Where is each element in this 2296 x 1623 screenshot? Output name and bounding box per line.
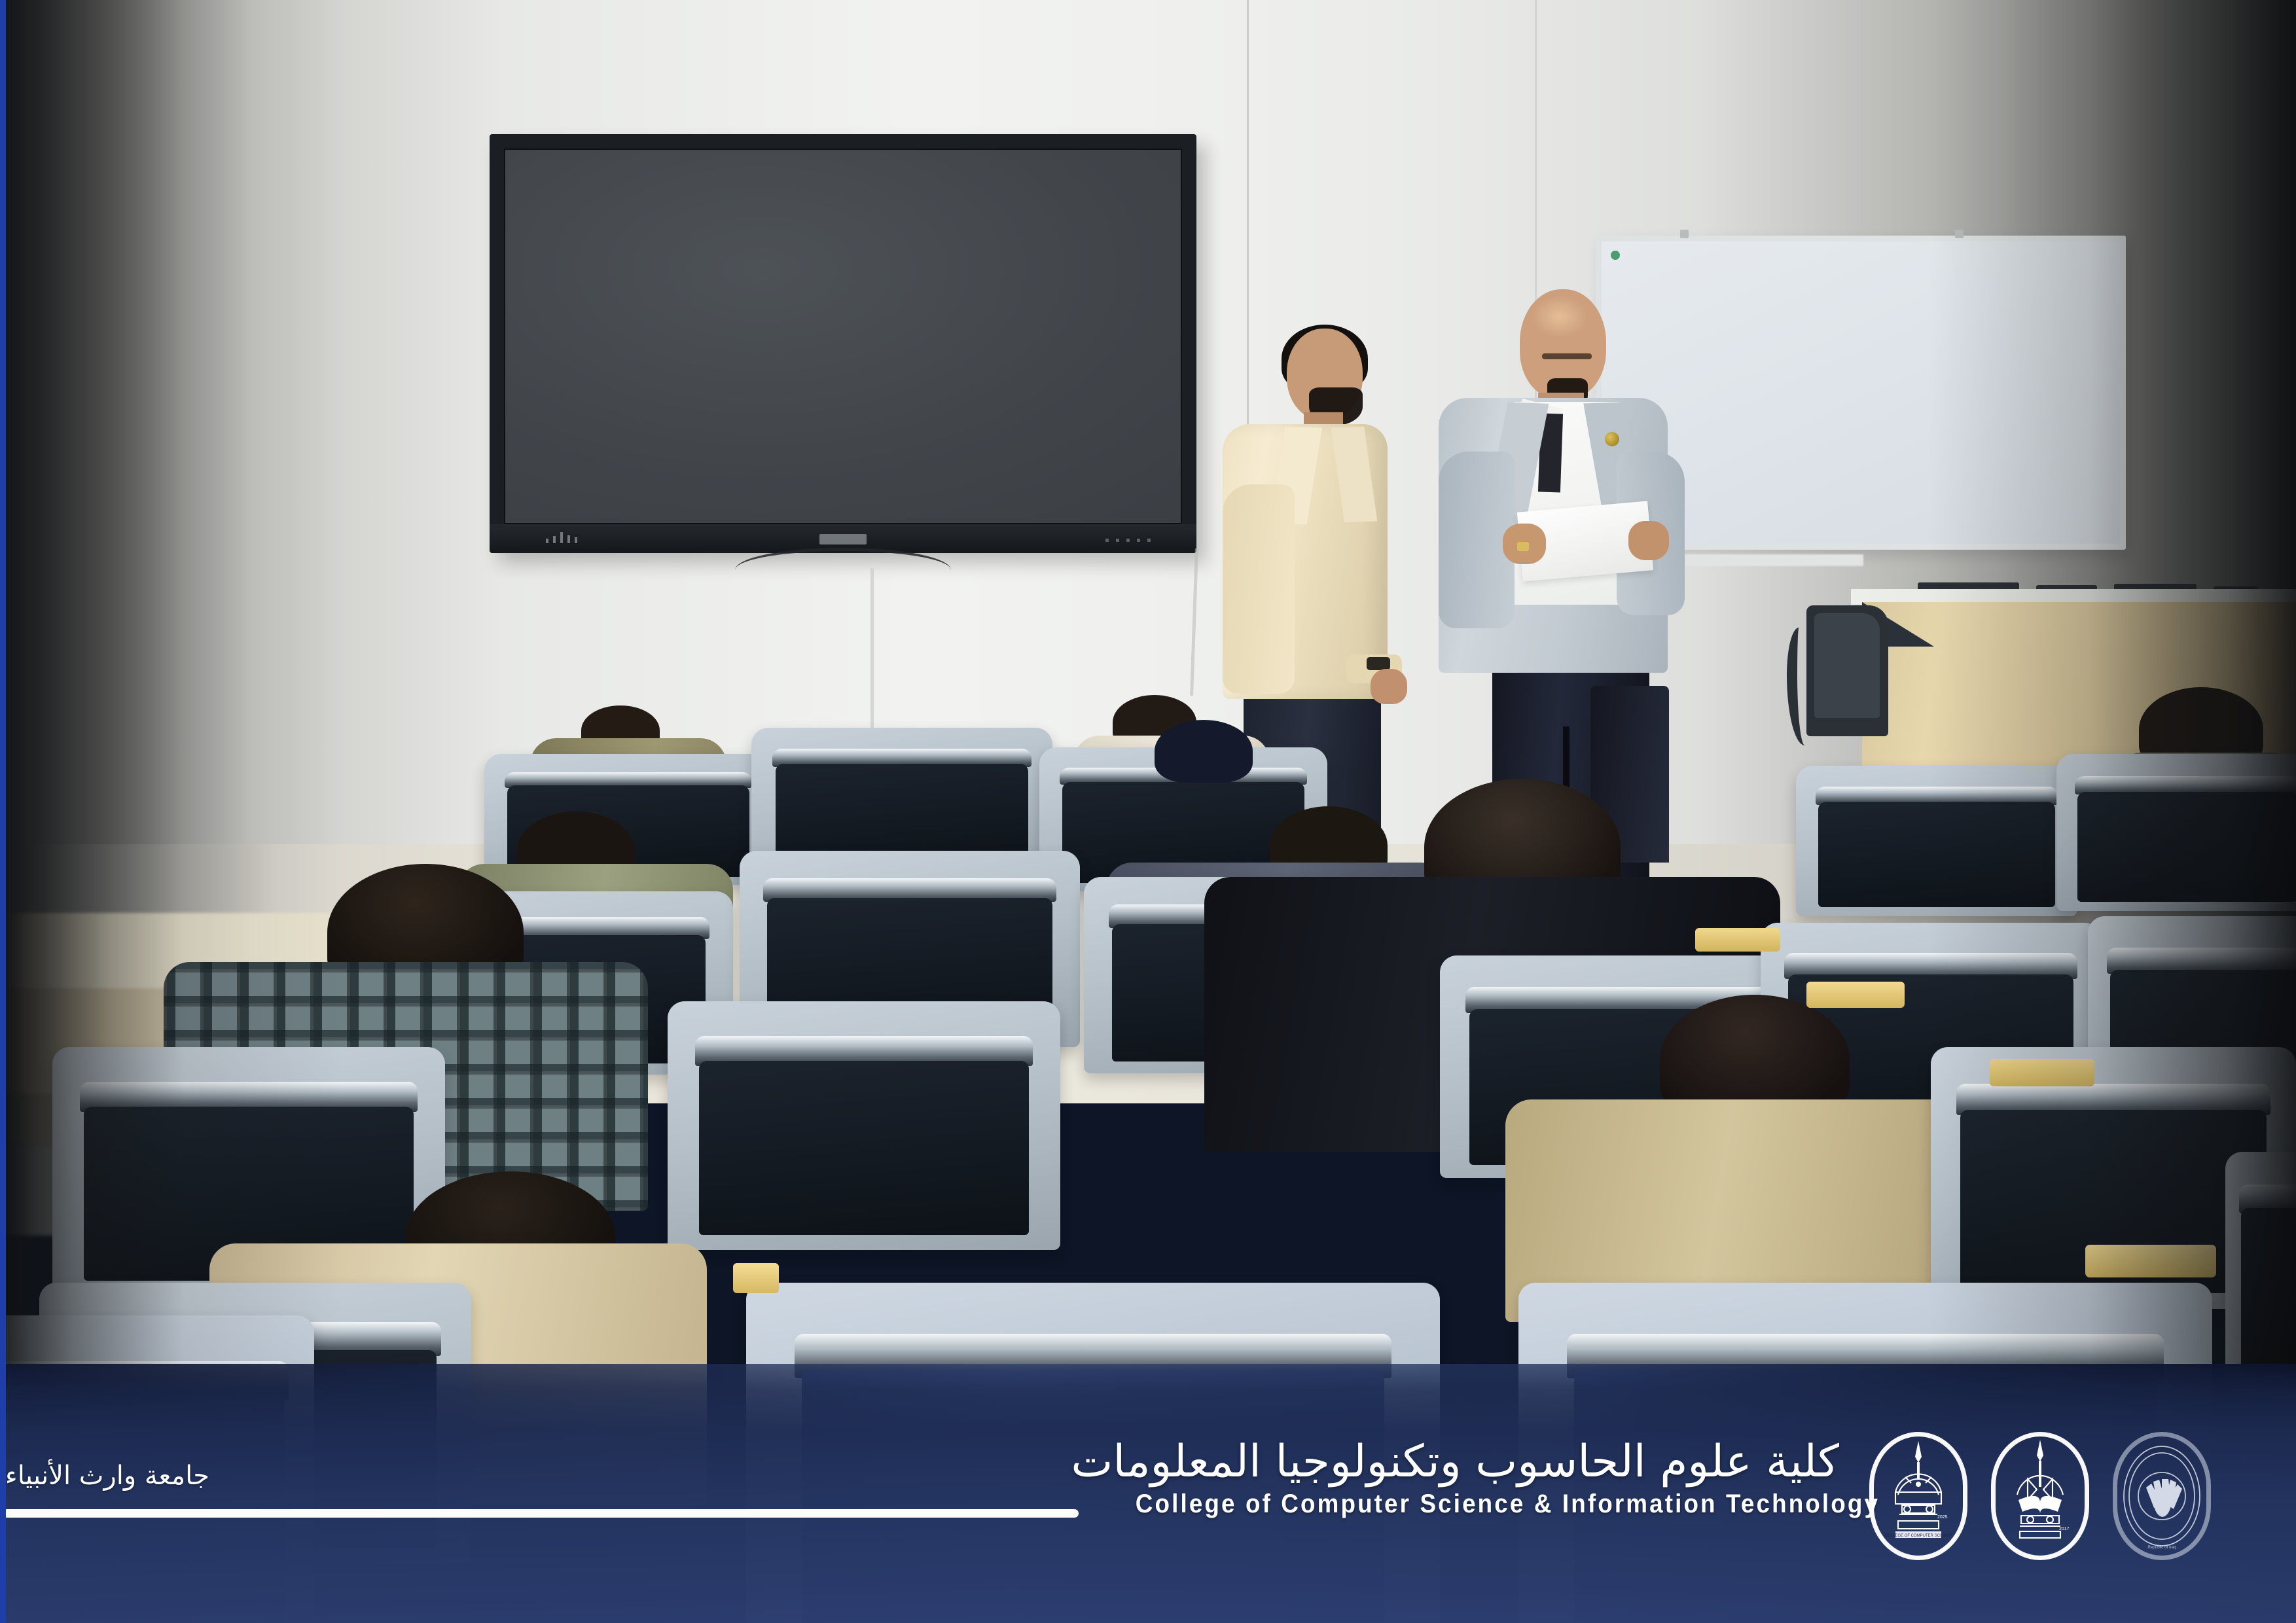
faculty-left-hand — [1371, 669, 1407, 704]
display-indicator-leds — [546, 532, 577, 543]
faculty-left-wristwatch — [1367, 657, 1390, 670]
faculty-right-ring — [1517, 542, 1529, 551]
faculty-right-head-highlight — [1532, 296, 1588, 338]
whiteboard-clip-left — [1680, 230, 1689, 238]
seat-row3-2 — [668, 1001, 1060, 1250]
seat-pad — [2241, 1208, 2296, 1373]
university-name-arabic: جامعة وارث الأنبياء(عليه السلام) — [0, 1461, 209, 1491]
faculty-right-hand-right — [1628, 521, 1669, 560]
seat-row5-5 — [2056, 754, 2296, 911]
svg-text:2017: 2017 — [2059, 1527, 2070, 1531]
seat-pad — [2077, 792, 2296, 902]
emblem-university-crest-college: COLLEGE OF COMPUTER SCIENCE 2025 — [1869, 1432, 1967, 1560]
left-accent-stripe — [0, 0, 6, 1623]
student-7-hair — [1155, 720, 1253, 783]
seat-armrest-wood-2 — [1806, 982, 1905, 1008]
emblem-row: COLLEGE OF COMPUTER SCIENCE 2025 — [1869, 1432, 2211, 1560]
office-chair-mesh — [1814, 613, 1880, 718]
seat-row5-4 — [1796, 766, 2077, 916]
seat-pad — [1818, 802, 2054, 907]
display-brand-logo — [819, 534, 867, 544]
poster-canvas: UNIVERSITY OF WARITH — [0, 0, 2296, 1623]
svg-text:COLLEGE OF COMPUTER SCIENCE: COLLEGE OF COMPUTER SCIENCE — [1885, 1534, 1952, 1538]
seat-armrest-wood-4 — [2085, 1245, 2216, 1277]
flat-panel-display — [490, 134, 1196, 553]
emblem-university-crest-book: 2017 — [1991, 1432, 2089, 1560]
svg-text:2025: 2025 — [1937, 1515, 1948, 1520]
emblem-ministry-seal: Republic of Iraq — [2113, 1432, 2211, 1560]
whiteboard-marker-tray — [1680, 554, 1863, 566]
college-name-arabic: كلية علوم الحاسوب وتكنولوجيا المعلومات — [1106, 1437, 1839, 1487]
seat-armrest-wood-1 — [1695, 928, 1780, 952]
seat-armrest-wood-5 — [733, 1263, 779, 1293]
seat-pad — [699, 1061, 1029, 1235]
seat-row3-4 — [2225, 1152, 2296, 1387]
faculty-right-brow — [1542, 353, 1592, 359]
footer-divider-rule — [0, 1509, 1079, 1518]
display-screen — [504, 149, 1182, 524]
university-name-arabic-text: جامعة وارث الأنبياء — [5, 1461, 209, 1491]
whiteboard-label-dot — [1611, 251, 1620, 260]
whiteboard-clip-right — [1955, 230, 1964, 238]
office-chair-armrest — [1787, 628, 1817, 745]
footer-brand-bar: جامعة وارث الأنبياء(عليه السلام) كلية عل… — [0, 1364, 2296, 1623]
faculty-left-sleeve — [1223, 484, 1295, 694]
seat-armrest-wood-3 — [1990, 1059, 2094, 1086]
display-ports — [1105, 539, 1151, 542]
faculty-right-lapel-pin — [1605, 432, 1619, 446]
svg-text:Republic of Iraq: Republic of Iraq — [2147, 1545, 2176, 1550]
college-name-block: كلية علوم الحاسوب وتكنولوجيا المعلومات C… — [1106, 1437, 1839, 1519]
display-cable-drop — [870, 568, 874, 741]
college-name-english: College of Computer Science & Informatio… — [1136, 1489, 1810, 1519]
